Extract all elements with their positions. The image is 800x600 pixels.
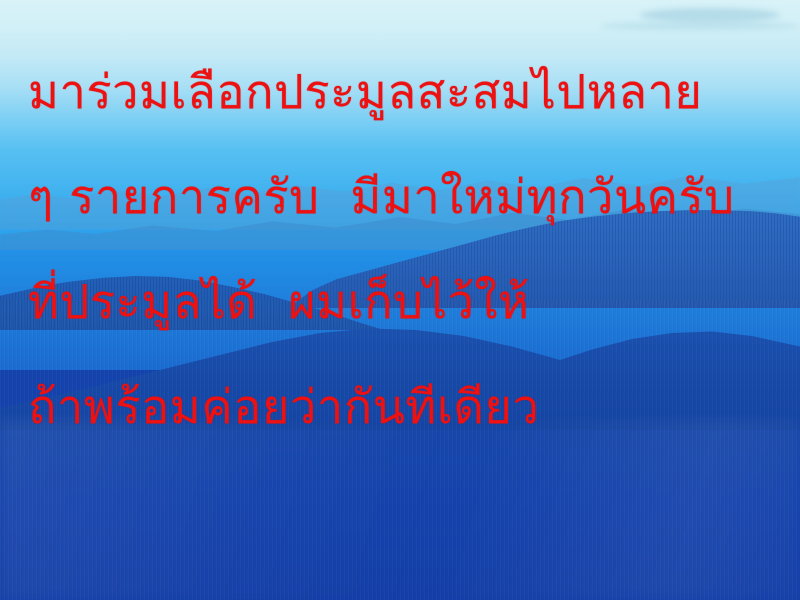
caption-overlay: มาร่วมเลือกประมูลสะสมไปหลาย ๆ รายการครับ… bbox=[0, 0, 800, 600]
image-banner: มาร่วมเลือกประมูลสะสมไปหลาย ๆ รายการครับ… bbox=[0, 0, 800, 600]
caption-line-1: มาร่วมเลือกประมูลสะสมไปหลาย bbox=[28, 40, 800, 145]
caption-line-2: ๆ รายการครับ มีมาใหม่ทุกวันครับ bbox=[28, 145, 800, 250]
caption-line-4: ถ้าพร้อมค่อยว่ากันทีเดียว bbox=[28, 355, 800, 460]
caption-line-3: ที่ประมูลได้ ผมเก็บไว้ให้ bbox=[28, 250, 800, 355]
